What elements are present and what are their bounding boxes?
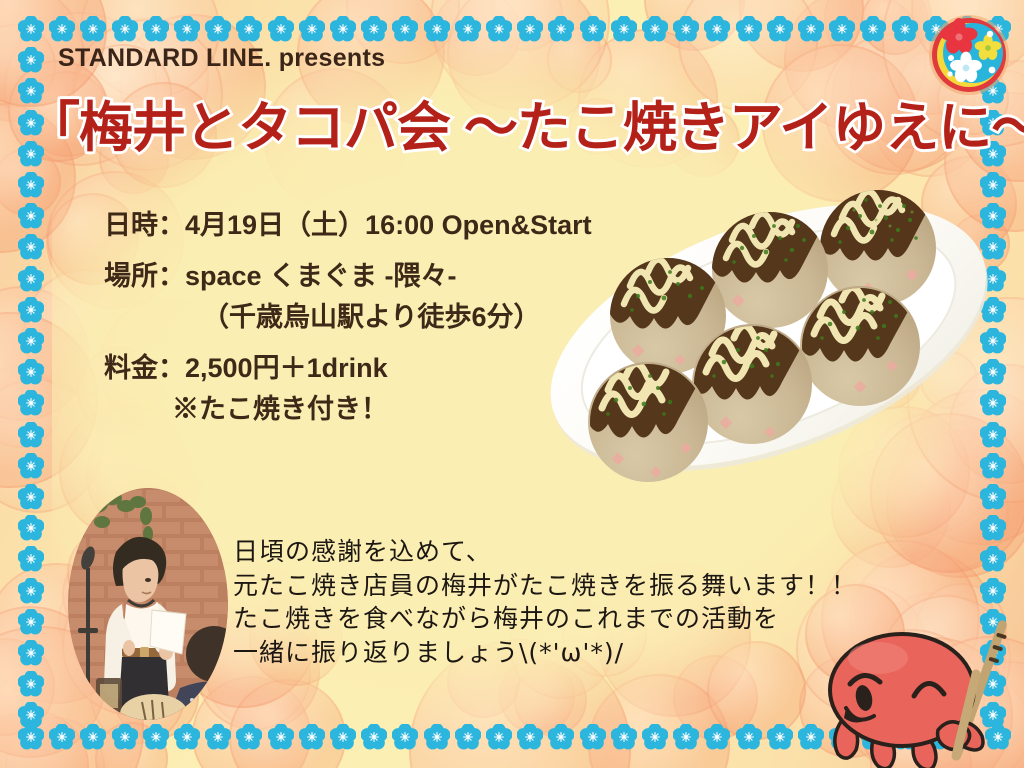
takoyaki-plate-illustration [520, 140, 1020, 500]
event-venue-access: （千歳烏山駅より徒歩6分） [202, 304, 592, 331]
presenter-label: STANDARD LINE. presents [58, 44, 385, 73]
description-line: 元たこ焼き店員の梅井がたこ焼きを振る舞います！！ [233, 569, 857, 603]
octopus-mascot-illustration [826, 612, 1024, 768]
event-datetime: 日時：4月19日（土）16:00 Open&Start [104, 212, 592, 239]
event-price: 料金：2,500円＋1drink [104, 355, 592, 382]
description-line: 一緒に振り返りましょう\(*'ω'*)/ [233, 636, 857, 670]
flyer-poster: STANDARD LINE. presents 「梅井とタコパ会 〜たこ焼きアイ… [0, 0, 1024, 768]
event-venue: 場所：space くまぐま -隈々- [104, 263, 592, 290]
description-line: 日頃の感謝を込めて、 [233, 535, 857, 569]
performer-photo [68, 488, 228, 720]
event-details: 日時：4月19日（土）16:00 Open&Start 場所：space くまぐ… [104, 212, 592, 447]
description-line: たこ焼きを食べながら梅井のこれまでの活動を [233, 602, 857, 636]
event-price-note: ※たこ焼き付き！ [172, 396, 592, 423]
event-description: 日頃の感謝を込めて、 元たこ焼き店員の梅井がたこ焼きを振る舞います！！ たこ焼き… [233, 535, 857, 669]
